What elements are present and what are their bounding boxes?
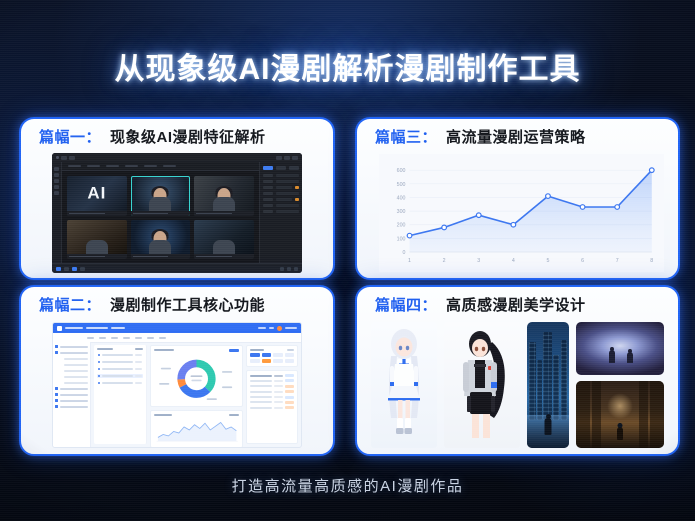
card-section-three[interactable]: 篇幅三： 高流量漫剧运营策略 0100200300400500600 <box>355 117 680 280</box>
quick-actions-header <box>250 349 294 351</box>
sidebar-item-label <box>60 406 88 408</box>
building-shape <box>543 332 551 420</box>
sock-right <box>405 418 411 429</box>
status-badge <box>285 406 294 409</box>
sidebar-item-label <box>64 382 88 384</box>
fullscreen-icon[interactable] <box>294 267 298 271</box>
toolbar-button[interactable] <box>111 337 118 339</box>
clip-caption-bar <box>194 254 254 259</box>
chart-y-tick-label: 300 <box>397 209 406 215</box>
quick-action-item[interactable] <box>273 353 283 357</box>
bell-icon[interactable] <box>269 327 274 329</box>
dress-top <box>392 364 416 386</box>
table-cell <box>250 391 272 393</box>
pillar-shape <box>592 381 601 448</box>
sidebar-item[interactable] <box>55 345 88 348</box>
rail-icon-text[interactable] <box>54 179 59 183</box>
rail-icon-effects[interactable] <box>54 185 59 189</box>
clip-thumbnail[interactable] <box>194 220 254 260</box>
statusbar-left-controls[interactable] <box>56 267 85 271</box>
list-panel-action[interactable] <box>135 348 143 350</box>
sidebar-subitem[interactable] <box>55 363 88 366</box>
building-shape <box>561 340 568 421</box>
card-two-body <box>21 320 333 454</box>
scene-silhouette-glow[interactable] <box>576 322 664 375</box>
toolbar-button[interactable] <box>99 337 106 339</box>
chart-x-tick-label: 1 <box>408 258 411 264</box>
chart-y-tick-label: 500 <box>397 182 406 188</box>
card-three-tag: 篇幅三： <box>375 126 437 147</box>
clip-thumbnail-label: AI <box>87 185 106 202</box>
list-panel-header <box>97 348 143 350</box>
card-one-body: AI <box>21 152 333 278</box>
sidebar-item-icon <box>55 345 58 348</box>
inspector-value[interactable] <box>276 210 299 213</box>
cuff-right <box>414 382 418 386</box>
sidebar-item[interactable] <box>55 351 88 354</box>
sidebar-subitem[interactable] <box>55 375 88 378</box>
leg-right <box>483 414 490 438</box>
card-four-heading: 高质感漫剧美学设计 <box>446 294 586 315</box>
editor-tab[interactable] <box>68 165 81 167</box>
character-black-ponytail-svg <box>444 322 520 448</box>
sidebar-item[interactable] <box>55 405 88 408</box>
sidebar-item[interactable] <box>55 393 88 396</box>
sidebar-item-label <box>60 394 88 396</box>
dashboard-body <box>53 342 301 447</box>
area-card-action[interactable] <box>229 414 239 416</box>
editor-clip-grid: AI <box>62 171 259 264</box>
shorts-shape <box>470 392 492 414</box>
sidebar-item-label <box>64 370 88 372</box>
quick-action-item[interactable] <box>273 359 283 363</box>
sidebar-item-icon <box>55 399 58 402</box>
card-three-body: 0100200300400500600 12345678 <box>357 152 678 278</box>
chart-y-tick-label: 100 <box>397 236 406 242</box>
sidebar-item-label <box>64 376 88 378</box>
dress-skirt <box>388 386 420 400</box>
inspector-value[interactable] <box>276 174 299 177</box>
light-glow <box>607 393 633 419</box>
dashboard-list-panel[interactable] <box>94 345 147 444</box>
character-body-shape <box>86 240 108 254</box>
chart-data-point[interactable] <box>476 213 481 218</box>
page-caption: 打造高流量高质感的AI漫剧作品 <box>0 475 695 496</box>
editor-tab[interactable] <box>144 165 157 167</box>
editor-export-button[interactable] <box>276 156 282 160</box>
quick-actions-action[interactable] <box>287 349 294 351</box>
sleeve-left <box>463 362 469 392</box>
quick-action-item[interactable] <box>285 359 295 363</box>
status-badge <box>285 401 294 404</box>
dashboard-right-column <box>246 342 301 447</box>
donut-card-title <box>154 349 174 351</box>
face-shape <box>472 339 488 357</box>
donut-chart-svg <box>154 349 239 403</box>
list-item-value <box>135 382 142 384</box>
toolbar-button[interactable] <box>135 337 142 339</box>
sidebar-item-label <box>60 388 88 390</box>
clip-caption-bar <box>131 211 191 216</box>
list-item-bullet <box>98 368 100 370</box>
clip-thumbnail[interactable] <box>131 176 191 216</box>
list-item-value <box>135 354 142 356</box>
building-shape <box>537 360 542 420</box>
editor-window-button[interactable] <box>292 156 298 160</box>
list-item-label <box>102 375 133 377</box>
editor-tool-rail[interactable] <box>52 162 62 264</box>
list-item-value <box>135 361 142 363</box>
toolbar-button[interactable] <box>159 337 166 339</box>
character-white-hair[interactable] <box>371 322 437 448</box>
chart-data-point[interactable] <box>407 233 412 238</box>
scene-night-city[interactable] <box>527 322 569 448</box>
avatar[interactable] <box>277 326 282 331</box>
chart-x-tick-label: 2 <box>443 258 446 264</box>
skirt-trim <box>388 398 420 401</box>
table-column-header <box>285 374 294 377</box>
clip-thumbnail[interactable] <box>131 220 191 260</box>
building-shape <box>553 355 559 421</box>
statusbar-right-controls[interactable] <box>280 267 298 271</box>
table-header-row <box>250 374 294 377</box>
editor-titlebar-left <box>56 156 75 160</box>
silhouette-figure <box>609 350 615 363</box>
editor-tab[interactable] <box>125 165 138 167</box>
zoom-in-icon[interactable] <box>287 267 291 271</box>
quick-action-item[interactable] <box>250 353 260 357</box>
eye-right <box>406 346 409 350</box>
list-panel-title <box>97 348 113 350</box>
list-item-selected[interactable] <box>97 374 143 378</box>
shoe-left <box>396 428 404 434</box>
card-one-heading: 现象级AI漫剧特征解析 <box>110 126 266 147</box>
sidebar-item-icon <box>55 405 58 408</box>
clip-caption-bar <box>194 211 254 216</box>
inspector-row[interactable] <box>263 198 299 201</box>
chart-x-tick-label: 5 <box>546 258 549 264</box>
table-column-header <box>250 375 272 377</box>
list-item[interactable] <box>97 360 143 364</box>
clip-caption-bar <box>67 211 127 216</box>
donut-card-header <box>154 349 239 352</box>
inspector-label <box>263 192 273 195</box>
table-row[interactable] <box>250 396 294 399</box>
dashboard-topbar <box>53 323 301 333</box>
inspector-label <box>263 186 273 189</box>
table-row[interactable] <box>250 385 294 388</box>
inspector-label <box>263 198 273 201</box>
table-cell <box>274 401 283 403</box>
topbar-breadcrumb <box>111 327 125 329</box>
username-text <box>285 327 297 329</box>
brand-logo-icon <box>57 326 62 331</box>
dashboard-topbar-right[interactable] <box>258 326 297 331</box>
quick-actions-grid[interactable] <box>250 353 294 363</box>
donut-legend-label <box>222 371 232 373</box>
editor-browser: AI <box>62 162 259 264</box>
table-cell <box>250 380 272 382</box>
editor-tab[interactable] <box>163 165 176 167</box>
clip-caption-bar <box>67 254 127 259</box>
dashboard-sidebar[interactable] <box>53 342 91 447</box>
chart-data-point[interactable] <box>442 225 447 230</box>
clip-thumbnail[interactable] <box>194 176 254 216</box>
leg-right <box>406 400 411 420</box>
list-item-label <box>102 354 133 356</box>
leg-left <box>398 400 403 420</box>
clip-caption-bar <box>131 254 191 259</box>
admin-dashboard-screenshot <box>52 322 302 448</box>
inspector-label <box>263 204 273 207</box>
card-three-header: 篇幅三： 高流量漫剧运营策略 <box>357 119 678 151</box>
card-two-heading: 漫剧制作工具核心功能 <box>110 294 265 315</box>
list-item[interactable] <box>97 381 143 385</box>
card-section-one[interactable]: 篇幅一： 现象级AI漫剧特征解析 <box>19 117 335 280</box>
editor-menu-item <box>61 156 67 160</box>
pillar-shape <box>650 381 664 448</box>
chart-data-point[interactable] <box>511 222 516 227</box>
quick-actions-card[interactable] <box>246 345 298 367</box>
table-row[interactable] <box>250 390 294 393</box>
chart-x-tick-label: 7 <box>616 258 619 264</box>
inspector-label <box>263 180 273 183</box>
dashboard-brand <box>57 326 125 331</box>
sidebar-subitem[interactable] <box>55 369 88 372</box>
chart-y-tick-label: 600 <box>397 168 406 174</box>
editor-statusbar <box>52 263 302 273</box>
scene-corridor[interactable] <box>576 381 664 448</box>
inspector-status-dot <box>295 198 299 201</box>
inspector-row[interactable] <box>263 174 299 177</box>
inspector-value[interactable] <box>276 192 299 195</box>
editor-tab-strip[interactable] <box>62 162 259 171</box>
sidebar-item-label <box>64 364 88 366</box>
table-row[interactable] <box>250 379 294 382</box>
inspector-tabs[interactable] <box>263 166 299 170</box>
sidebar-item-icon <box>55 387 58 390</box>
table-cell <box>274 380 283 382</box>
silhouette-figure <box>627 352 633 363</box>
sock-left <box>397 418 403 429</box>
record-button-icon[interactable] <box>72 267 77 271</box>
rail-icon-media[interactable] <box>54 167 59 171</box>
silhouette-figure <box>617 427 623 440</box>
table-cell <box>250 407 272 409</box>
quick-action-item[interactable] <box>262 359 272 363</box>
area-chart-fill <box>158 423 236 442</box>
area-card-header <box>154 414 239 416</box>
sleeve-accent <box>491 382 497 388</box>
sidebar-item-icon <box>55 381 58 384</box>
editor-inspector-panel[interactable] <box>259 162 302 264</box>
list-item[interactable] <box>97 367 143 371</box>
donut-card-button[interactable] <box>229 349 239 352</box>
pillar-shape <box>639 381 648 448</box>
editor-logo-icon <box>56 156 59 159</box>
inspector-row[interactable] <box>263 192 299 195</box>
chart-x-tick-label: 6 <box>581 258 584 264</box>
status-badge <box>285 396 294 399</box>
character-body-shape <box>213 197 235 211</box>
inspector-status-dot <box>295 186 299 189</box>
card-section-two[interactable]: 篇幅二： 漫剧制作工具核心功能 <box>19 285 335 456</box>
stop-button-icon[interactable] <box>64 267 69 271</box>
sidebar-item-label <box>60 352 88 354</box>
chart-data-point[interactable] <box>615 205 620 210</box>
chart-data-point[interactable] <box>580 205 585 210</box>
donut-legend-label <box>222 386 232 388</box>
character-body-shape <box>213 240 235 254</box>
art-gallery <box>371 322 664 448</box>
chart-x-tick-label: 4 <box>512 258 515 264</box>
traffic-line-chart: 0100200300400500600 12345678 <box>379 154 664 272</box>
face-shape <box>396 338 413 357</box>
topbar-breadcrumb <box>86 327 108 329</box>
table-column-header <box>274 375 283 377</box>
inspector-tab[interactable] <box>289 166 299 170</box>
donut-center-value <box>191 380 201 382</box>
toolbar-button[interactable] <box>147 337 154 339</box>
inspector-value[interactable] <box>276 186 292 189</box>
eye-right <box>482 347 485 351</box>
sidebar-item-icon <box>55 351 58 354</box>
sidebar-item-icon <box>55 369 58 372</box>
sidebar-item-icon <box>55 375 58 378</box>
card-three-heading: 高流量漫剧运营策略 <box>446 126 586 147</box>
list-item-bullet <box>98 361 100 363</box>
character-body-shape <box>149 240 171 254</box>
play-button-icon[interactable] <box>56 267 61 271</box>
silhouette-figure <box>545 418 552 435</box>
data-table-card[interactable] <box>246 370 298 444</box>
list-item-label <box>102 368 133 370</box>
list-item-bullet <box>98 375 100 377</box>
rail-icon-audio[interactable] <box>54 173 59 177</box>
table-cell <box>274 407 283 409</box>
donut-legend-label <box>159 383 169 385</box>
card-one-header: 篇幅一： 现象级AI漫剧特征解析 <box>21 119 333 151</box>
quick-action-item[interactable] <box>250 359 260 363</box>
inspector-label <box>263 174 273 177</box>
inspector-value[interactable] <box>276 204 299 207</box>
donut-center-label <box>191 375 203 377</box>
quick-action-item[interactable] <box>262 353 272 357</box>
chart-y-tick-label: 400 <box>397 195 406 201</box>
chart-svg: 0100200300400500600 12345678 <box>379 154 664 272</box>
leg-left <box>472 414 479 438</box>
inspector-tab[interactable] <box>276 166 286 170</box>
inspector-row[interactable] <box>263 180 299 183</box>
inspector-row[interactable] <box>263 204 299 207</box>
neck-band <box>474 364 486 367</box>
donut-legend-label <box>207 398 217 400</box>
toolbar-button[interactable] <box>123 337 130 339</box>
editor-titlebar-right <box>276 156 298 160</box>
card-two-header: 篇幅二： 漫剧制作工具核心功能 <box>21 287 333 319</box>
inspector-row[interactable] <box>263 186 299 189</box>
inspector-value[interactable] <box>276 180 299 183</box>
loop-button-icon[interactable] <box>80 267 85 271</box>
list-item[interactable] <box>97 353 143 357</box>
pillar-shape <box>576 381 590 448</box>
editor-tab[interactable] <box>106 165 119 167</box>
inspector-value[interactable] <box>276 198 292 201</box>
inspector-label <box>263 210 273 213</box>
chart-x-tick-label: 3 <box>477 258 480 264</box>
donut-chart-card[interactable] <box>150 345 243 407</box>
zoom-out-icon[interactable] <box>280 267 284 271</box>
character-black-ponytail[interactable] <box>444 322 520 448</box>
chart-data-point[interactable] <box>546 194 551 199</box>
slide-canvas: 从现象级AI漫剧解析漫剧制作工具 篇幅一： 现象级AI漫剧特征解析 <box>0 0 695 521</box>
status-badge <box>285 385 294 388</box>
chart-y-tick-label: 0 <box>403 250 406 256</box>
card-section-four[interactable]: 篇幅四： 高质感漫剧美学设计 <box>355 285 680 456</box>
list-item-bullet <box>98 354 100 356</box>
sidebar-item[interactable] <box>55 399 88 402</box>
sidebar-item-label <box>64 358 88 360</box>
chart-y-tick-label: 200 <box>397 223 406 229</box>
character-body-shape <box>149 197 171 211</box>
rail-icon-transitions[interactable] <box>54 191 59 195</box>
sidebar-subitem[interactable] <box>55 357 88 360</box>
area-chart-card[interactable] <box>150 410 243 448</box>
table-row[interactable] <box>250 406 294 409</box>
topbar-action[interactable] <box>258 327 266 329</box>
status-badge <box>285 379 294 382</box>
table-row[interactable] <box>250 401 294 404</box>
card-four-body <box>357 320 678 454</box>
eye-left <box>475 347 478 351</box>
table-cell <box>274 391 283 393</box>
dashboard-main-column <box>147 342 246 447</box>
editor-main: AI <box>52 162 302 264</box>
quick-actions-title <box>250 349 264 351</box>
sidebar-item[interactable] <box>55 387 88 390</box>
table-cell <box>250 385 272 387</box>
strap-left <box>467 396 471 412</box>
status-badge <box>285 390 294 393</box>
editor-window-button[interactable] <box>284 156 290 160</box>
editor-tab[interactable] <box>87 165 100 167</box>
shoe-right <box>405 428 413 434</box>
toolbar-button[interactable] <box>87 337 94 339</box>
sidebar-item-label <box>60 400 88 402</box>
character-white-hair-svg <box>371 322 437 448</box>
inspector-row[interactable] <box>263 210 299 213</box>
sidebar-item-icon <box>55 393 58 396</box>
sidebar-item-icon <box>55 363 58 366</box>
card-one-tag: 篇幅一： <box>39 126 101 147</box>
chart-x-tick-label: 8 <box>650 258 653 264</box>
sidebar-item-label <box>60 346 88 348</box>
card-four-tag: 篇幅四： <box>375 294 437 315</box>
card-two-tag: 篇幅二： <box>39 294 101 315</box>
area-card-title <box>154 414 172 416</box>
sidebar-subitem[interactable] <box>55 381 88 384</box>
inspector-tab-active[interactable] <box>263 166 273 170</box>
table-cell <box>250 396 272 398</box>
clip-thumbnail[interactable]: AI <box>67 176 127 216</box>
page-title: 从现象级AI漫剧解析漫剧制作工具 <box>0 44 695 88</box>
editor-menu-item <box>69 156 75 160</box>
scene-column <box>576 322 664 448</box>
sidebar-item-icon <box>55 357 58 360</box>
clip-thumbnail[interactable] <box>67 220 127 260</box>
quick-action-item[interactable] <box>285 353 295 357</box>
chart-data-point[interactable] <box>649 168 654 173</box>
